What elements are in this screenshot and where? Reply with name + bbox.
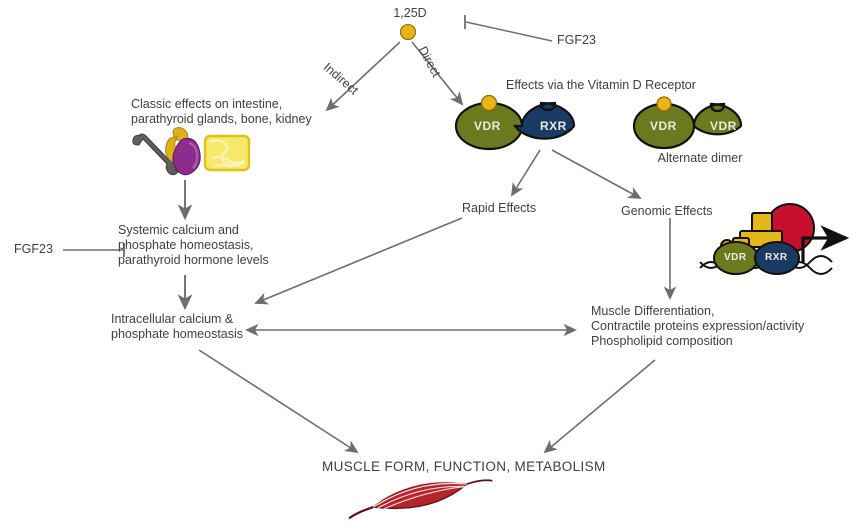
edge-dimer-rapid xyxy=(512,150,540,195)
muscle-effects-label: Muscle Differentiation, Contractile prot… xyxy=(591,304,804,349)
rxr-genomic-label: RXR xyxy=(765,252,788,263)
vdr-genomic-label: VDR xyxy=(724,252,747,263)
systemic-homeostasis-label: Systemic calcium and phosphate homeostas… xyxy=(118,223,269,268)
edge-fgf23-inhibits-systemic xyxy=(63,243,124,257)
edge-fgf23-inhibits-ligand xyxy=(465,15,552,41)
ligand-label: 1,25D xyxy=(382,6,438,21)
classic-effects-label: Classic effects on intestine, parathyroi… xyxy=(131,97,312,127)
rapid-effects-label: Rapid Effects xyxy=(462,201,536,216)
genomic-effects-label: Genomic Effects xyxy=(621,204,712,219)
intracellular-homeostasis-label: Intracellular calcium & phosphate homeos… xyxy=(111,312,243,342)
muscle-icon xyxy=(345,469,494,521)
diagram-canvas: 1,25D FGF23 FGF23 Indirect Direct Effect… xyxy=(0,0,866,529)
ligand-dot-icon xyxy=(482,96,497,111)
transcription-complex-icon xyxy=(700,204,846,274)
alternate-dimer-label: Alternate dimer xyxy=(630,151,770,166)
outcome-label: MUSCLE FORM, FUNCTION, METABOLISM xyxy=(322,459,606,474)
fgf23-top-label: FGF23 xyxy=(557,33,596,48)
vdr-label: VDR xyxy=(474,119,501,133)
edge-muscle-outcome xyxy=(545,360,655,452)
rxr-label: RXR xyxy=(540,119,567,133)
vdr-receptor-header: Effects via the Vitamin D Receptor xyxy=(506,78,696,93)
fgf23-left-label: FGF23 xyxy=(14,242,53,257)
vdr-alt-left-label: VDR xyxy=(650,119,677,133)
ligand-dot-icon xyxy=(657,97,671,111)
edge-dimer-genomic xyxy=(552,150,640,198)
edge-intracellular-outcome xyxy=(199,350,357,452)
ligand-dot-icon xyxy=(401,25,416,40)
intestine-icon xyxy=(205,136,249,170)
vdr-alt-right-label: VDR xyxy=(710,119,737,133)
edge-rapid-intracellular xyxy=(256,218,462,303)
